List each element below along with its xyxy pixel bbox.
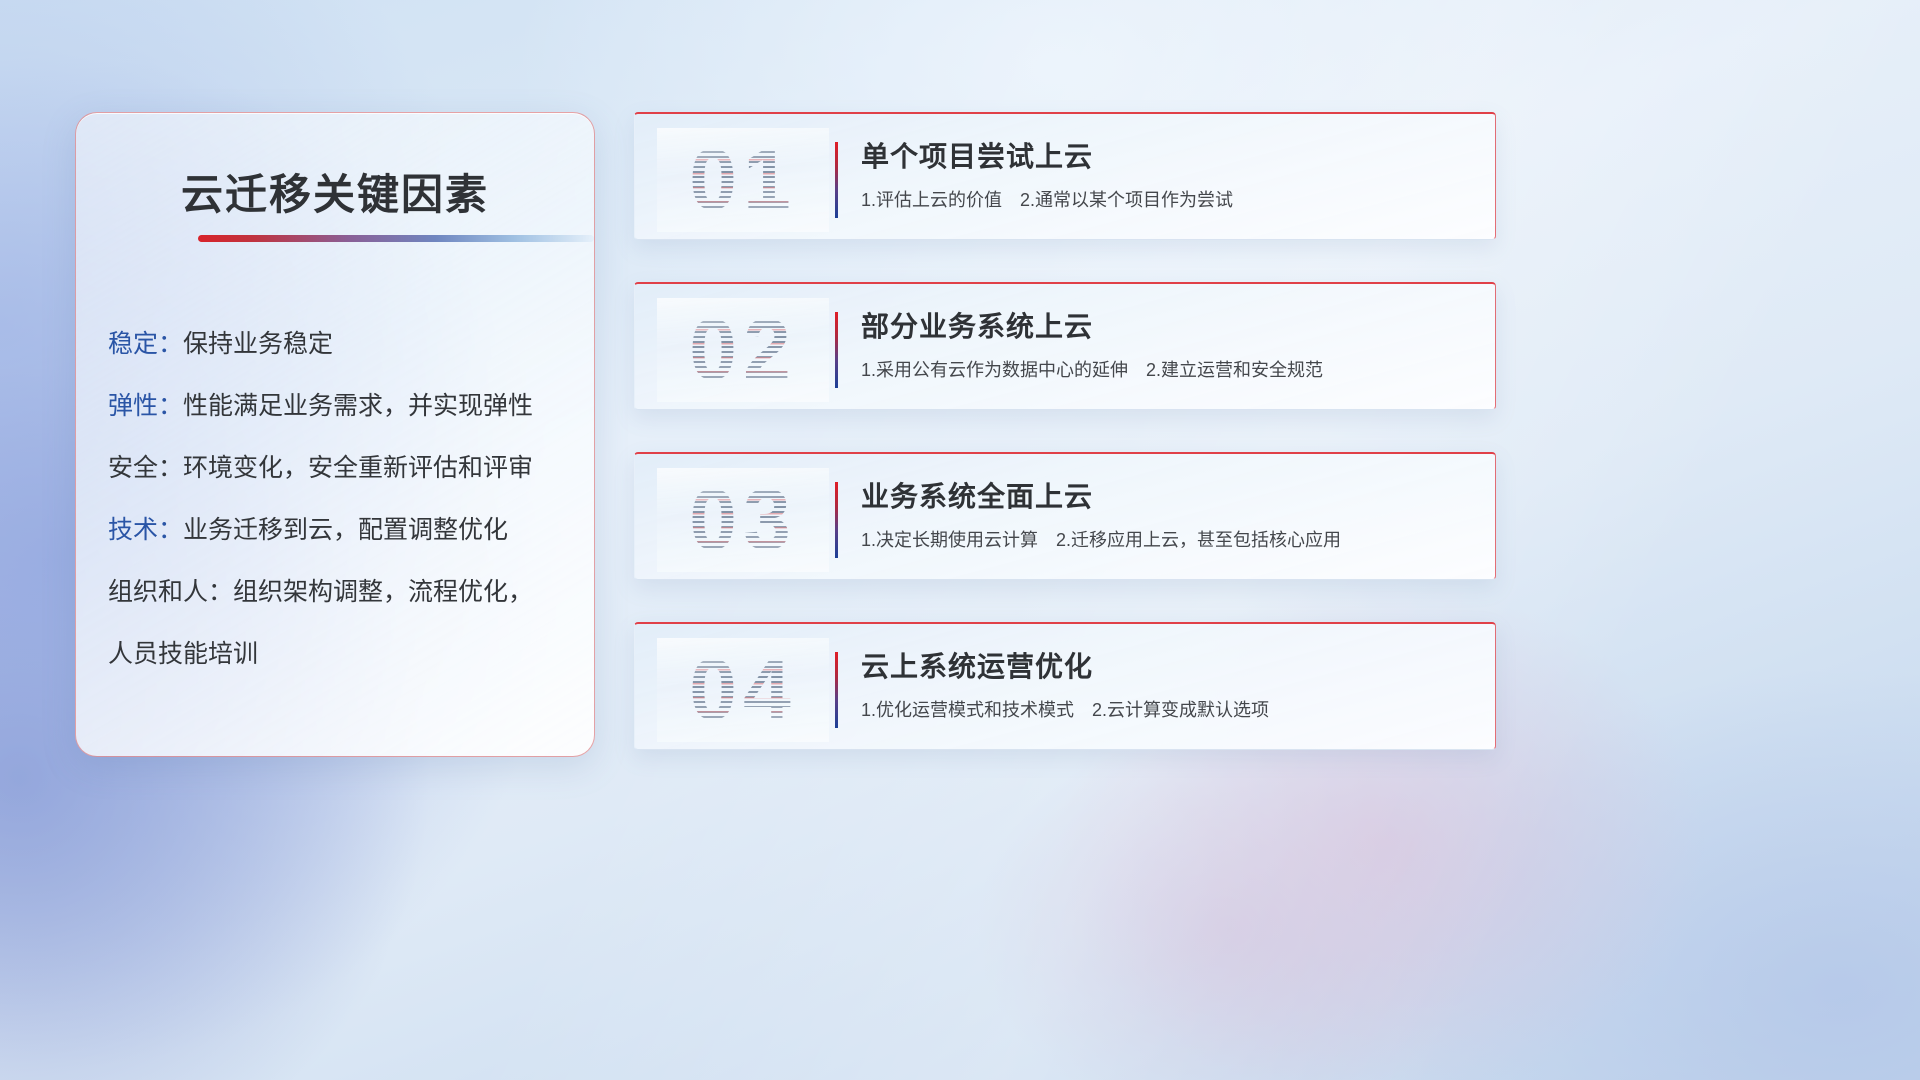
stage-number-fade	[657, 298, 829, 402]
stage-title: 部分业务系统上云	[861, 306, 1471, 348]
stage-card-list: 0101单个项目尝试上云1.评估上云的价值 2.通常以某个项目作为尝试0202部…	[634, 112, 1496, 750]
stage-number: 03	[689, 471, 797, 570]
stage-subtitle: 1.采用公有云作为数据中心的延伸 2.建立运营和安全规范	[861, 356, 1471, 384]
stage-card[interactable]: 0404云上系统运营优化1.优化运营模式和技术模式 2.云计算变成默认选项	[634, 622, 1496, 750]
stage-number-fade	[657, 128, 829, 232]
stage-subtitle: 1.评估上云的价值 2.通常以某个项目作为尝试	[861, 186, 1471, 214]
stage-number-tint: 04	[689, 641, 797, 740]
stage-subtitle: 1.决定长期使用云计算 2.迁移应用上云，甚至包括核心应用	[861, 526, 1471, 554]
key-factor-row: 组织和人：组织架构调整，流程优化，	[108, 561, 572, 623]
stage-number-decoration: 0202	[657, 298, 829, 402]
stage-accent-bar	[835, 482, 838, 558]
key-factors-list: 稳定：保持业务稳定弹性：性能满足业务需求，并实现弹性安全：环境变化，安全重新评估…	[108, 313, 572, 685]
stage-number: 04	[689, 641, 797, 740]
stage-card-body: 业务系统全面上云1.决定长期使用云计算 2.迁移应用上云，甚至包括核心应用	[861, 476, 1471, 554]
key-factor-label: 技术：	[108, 516, 183, 544]
stage-card-body: 单个项目尝试上云1.评估上云的价值 2.通常以某个项目作为尝试	[861, 136, 1471, 214]
page-title: 云迁移关键因素	[76, 161, 594, 222]
key-factor-label: 组织和人：	[108, 578, 233, 606]
stage-card-body: 云上系统运营优化1.优化运营模式和技术模式 2.云计算变成默认选项	[861, 646, 1471, 724]
stage-card[interactable]: 0202部分业务系统上云1.采用公有云作为数据中心的延伸 2.建立运营和安全规范	[634, 282, 1496, 410]
stage-card[interactable]: 0101单个项目尝试上云1.评估上云的价值 2.通常以某个项目作为尝试	[634, 112, 1496, 240]
stage-card[interactable]: 0303业务系统全面上云1.决定长期使用云计算 2.迁移应用上云，甚至包括核心应…	[634, 452, 1496, 580]
stage-number-tint: 01	[689, 131, 797, 230]
key-factor-label: 稳定：	[108, 330, 183, 358]
key-factor-text: 组织架构调整，流程优化，	[233, 578, 533, 606]
stage-number-fade	[657, 638, 829, 742]
title-underline-rule	[198, 235, 594, 242]
stage-number: 02	[689, 301, 797, 400]
stage-accent-bar	[835, 652, 838, 728]
stage-title: 云上系统运营优化	[861, 646, 1471, 688]
stage-number-tint: 03	[689, 471, 797, 570]
stage-title: 业务系统全面上云	[861, 476, 1471, 518]
stage-number-fade	[657, 468, 829, 572]
stage-number-decoration: 0404	[657, 638, 829, 742]
key-factor-text: 人员技能培训	[108, 640, 258, 668]
key-factor-row: 稳定：保持业务稳定	[108, 313, 572, 375]
stage-number-tint: 02	[689, 301, 797, 400]
key-factor-label: 弹性：	[108, 392, 183, 420]
key-factors-panel: 云迁移关键因素 稳定：保持业务稳定弹性：性能满足业务需求，并实现弹性安全：环境变…	[75, 112, 595, 757]
stage-number-decoration: 0303	[657, 468, 829, 572]
stage-accent-bar	[835, 142, 838, 218]
key-factor-text: 业务迁移到云，配置调整优化	[183, 516, 508, 544]
key-factor-row: 技术：业务迁移到云，配置调整优化	[108, 499, 572, 561]
stage-subtitle: 1.优化运营模式和技术模式 2.云计算变成默认选项	[861, 696, 1471, 724]
stage-card-body: 部分业务系统上云1.采用公有云作为数据中心的延伸 2.建立运营和安全规范	[861, 306, 1471, 384]
stage-number: 01	[689, 131, 797, 230]
key-factor-text: 性能满足业务需求，并实现弹性	[183, 392, 533, 420]
stage-accent-bar	[835, 312, 838, 388]
key-factor-label: 安全：	[108, 454, 183, 482]
key-factor-row: 弹性：性能满足业务需求，并实现弹性	[108, 375, 572, 437]
key-factor-row: 人员技能培训	[108, 623, 572, 685]
key-factor-row: 安全：环境变化，安全重新评估和评审	[108, 437, 572, 499]
stage-title: 单个项目尝试上云	[861, 136, 1471, 178]
key-factor-text: 环境变化，安全重新评估和评审	[183, 454, 533, 482]
key-factor-text: 保持业务稳定	[183, 330, 333, 358]
stage-number-decoration: 0101	[657, 128, 829, 232]
